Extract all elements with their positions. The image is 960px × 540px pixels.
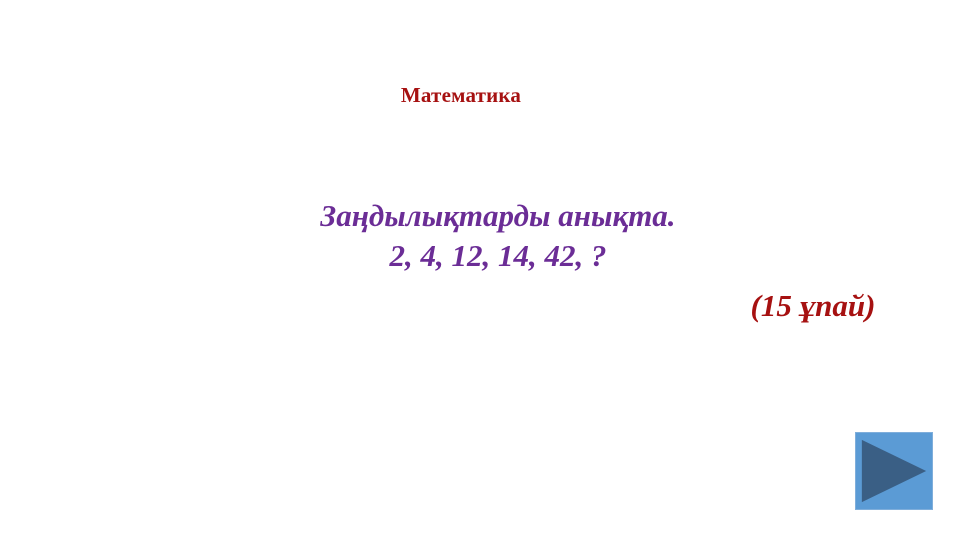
points-label: (15 ұпай) xyxy=(638,287,960,324)
next-slide-button[interactable] xyxy=(855,432,933,510)
page-title: Математика xyxy=(0,84,922,107)
play-triangle-right-icon xyxy=(856,433,932,509)
question-block: Заңдылықтарды анықта. 2, 4, 12, 14, 42, … xyxy=(0,196,960,275)
question-prompt: Заңдылықтарды анықта. xyxy=(0,196,960,236)
slide-canvas: Математика Заңдылықтарды анықта. 2, 4, 1… xyxy=(0,0,960,540)
question-number-sequence: 2, 4, 12, 14, 42, ? xyxy=(0,236,960,276)
